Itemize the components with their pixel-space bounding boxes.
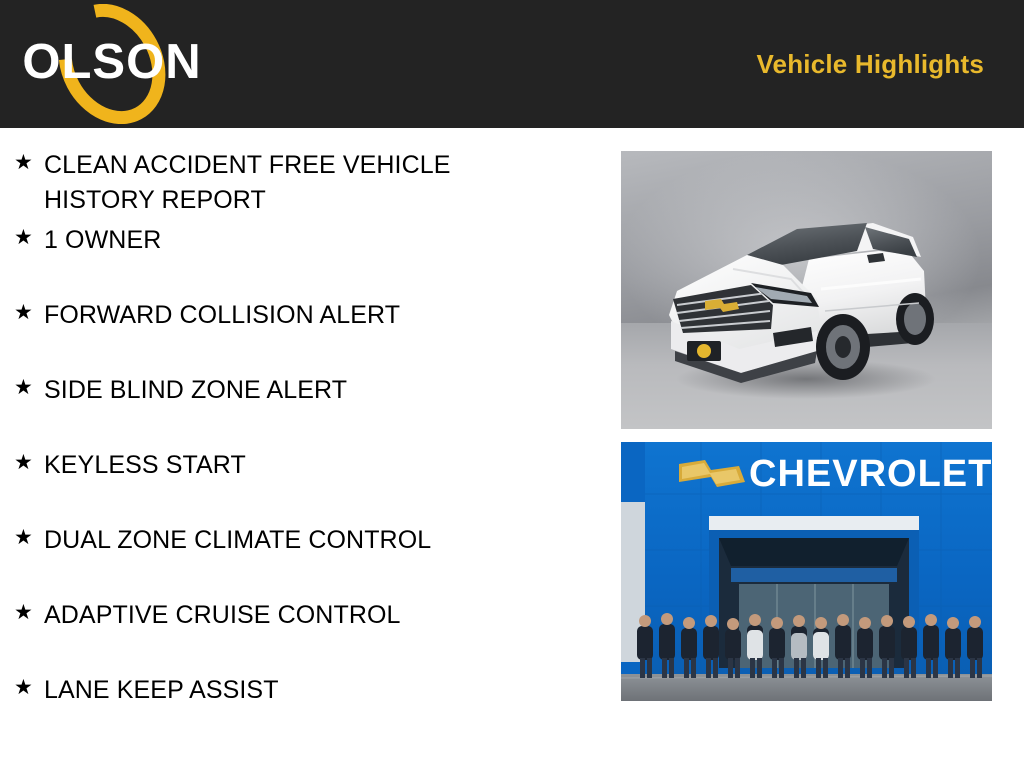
rear-wheel (896, 293, 934, 345)
list-item: ★ FORWARD COLLISION ALERT (0, 298, 600, 373)
highlight-label: DUAL ZONE CLIMATE CONTROL (44, 523, 431, 558)
slide-body: ★ CLEAN ACCIDENT FREE VEHICLE HISTORY RE… (0, 128, 1024, 768)
highlight-label: KEYLESS START (44, 448, 246, 483)
list-item: ★ 1 OWNER (0, 223, 600, 298)
highlight-label: ADAPTIVE CRUISE CONTROL (44, 598, 401, 633)
list-item: ★ CLEAN ACCIDENT FREE VEHICLE HISTORY RE… (0, 148, 600, 223)
star-bullet-icon: ★ (14, 373, 44, 403)
star-bullet-icon: ★ (14, 523, 44, 553)
list-item: ★ LANE KEEP ASSIST (0, 673, 600, 748)
page-title: Vehicle Highlights (756, 49, 984, 80)
highlight-label: SIDE BLIND ZONE ALERT (44, 373, 347, 408)
list-item: ★ DUAL ZONE CLIMATE CONTROL (0, 523, 600, 598)
highlight-label: LANE KEEP ASSIST (44, 673, 279, 708)
star-bullet-icon: ★ (14, 448, 44, 478)
vehicle-highlights-slide: OLSON Vehicle Highlights ★ CLEAN ACCIDEN… (0, 0, 1024, 768)
front-wheel (816, 314, 870, 380)
star-bullet-icon: ★ (14, 298, 44, 328)
highlight-label: 1 OWNER (44, 223, 161, 258)
logo-wordmark: OLSON (22, 35, 201, 89)
list-item: ★ KEYLESS START (0, 448, 600, 523)
olson-logo-svg: OLSON (12, 4, 212, 124)
star-bullet-icon: ★ (14, 598, 44, 628)
media-column: CHEVROLET (621, 128, 992, 701)
vehicle-illustration (621, 151, 992, 429)
vehicle-photo (621, 151, 992, 429)
star-bullet-icon: ★ (14, 148, 44, 178)
dealer-plate-logo (697, 344, 711, 358)
highlight-label: CLEAN ACCIDENT FREE VEHICLE HISTORY REPO… (44, 148, 564, 218)
interior-band (731, 568, 897, 582)
dealership-illustration: CHEVROLET (621, 442, 992, 701)
vehicle-highlights-list: ★ CLEAN ACCIDENT FREE VEHICLE HISTORY RE… (0, 128, 600, 748)
olson-logo: OLSON (12, 4, 212, 124)
canopy-band (709, 516, 919, 530)
entrance-soffit (719, 538, 909, 566)
list-item: ★ SIDE BLIND ZONE ALERT (0, 373, 600, 448)
highlight-label: FORWARD COLLISION ALERT (44, 298, 400, 333)
page-header: OLSON Vehicle Highlights (0, 0, 1024, 128)
dealership-photo: CHEVROLET (621, 442, 992, 701)
star-bullet-icon: ★ (14, 673, 44, 703)
star-bullet-icon: ★ (14, 223, 44, 253)
list-item: ★ ADAPTIVE CRUISE CONTROL (0, 598, 600, 673)
chevrolet-wordmark: CHEVROLET (749, 453, 992, 495)
